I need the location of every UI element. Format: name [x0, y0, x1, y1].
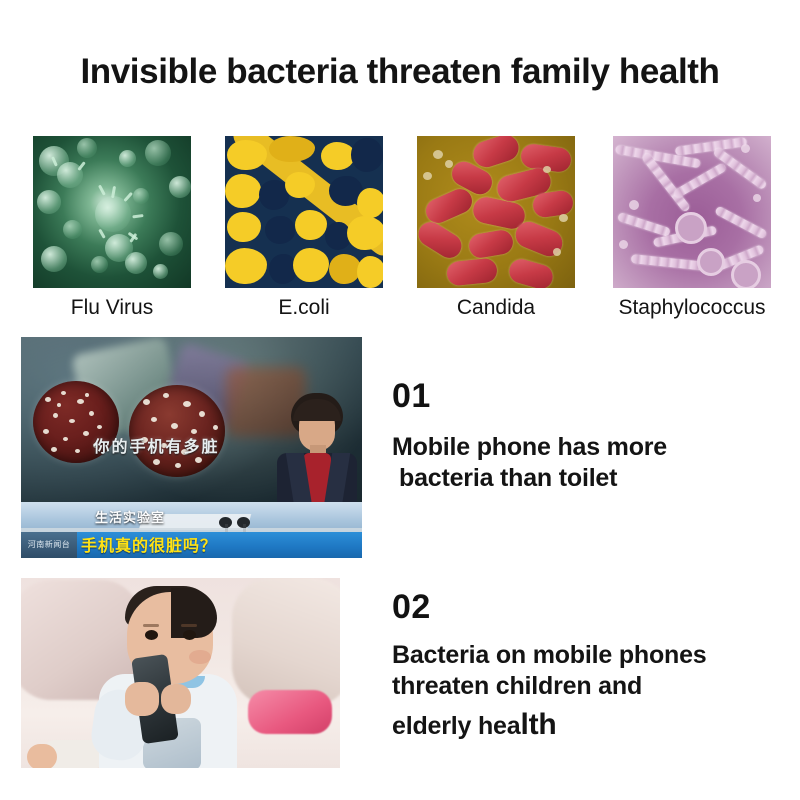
baby-brow-left [143, 624, 159, 627]
baby-eye-left [145, 630, 158, 640]
specimen-card-candida: Candida [417, 136, 575, 288]
candida-image [417, 136, 575, 288]
petri-dish-right [129, 385, 225, 477]
baby-hand-right [161, 684, 191, 714]
section-text-02-line3-a: elderly hea [392, 712, 520, 740]
specimen-card-flu-virus: Flu Virus [33, 136, 191, 288]
section-text-02: Bacteria on mobile phones threaten child… [392, 640, 792, 744]
candida-micrograph-art [417, 136, 575, 288]
baby-hand-left [125, 682, 159, 716]
section-text-02-line3: elderly health [392, 707, 792, 744]
page-title: Invisible bacteria threaten family healt… [0, 52, 800, 92]
news-lower-third: 河南新闻台 手机真的很脏吗？ [21, 532, 362, 558]
news-broadcast-photo: 你的手机有多脏 生活实验室 河南新闻台 手机真的很脏吗？ [21, 337, 362, 558]
staphylococcus-micrograph-art [613, 136, 771, 288]
baby-foot [27, 744, 57, 768]
specimen-gallery: Flu Virus [0, 136, 800, 326]
ecoli-image [225, 136, 383, 288]
staphylococcus-image [613, 136, 771, 288]
section-text-02-line2: threaten children and [392, 672, 642, 700]
news-overlay-caption: 你的手机有多脏 [64, 433, 249, 457]
specimen-label: Flu Virus [17, 296, 207, 320]
ecoli-micrograph-art [225, 136, 383, 288]
news-program-label: 生活实验室 [95, 507, 255, 524]
specimen-label: Staphylococcus [595, 296, 789, 320]
section-text-02-line1: Bacteria on mobile phones [392, 641, 707, 669]
flu-virus-image [33, 136, 191, 288]
baby-brow-right [181, 624, 197, 627]
infographic-page: Invisible bacteria threaten family healt… [0, 0, 800, 800]
specimen-card-staphylococcus: Staphylococcus [613, 136, 771, 288]
section-text-02-line3-b: lth [520, 708, 556, 741]
baby-chewing-phone-photo [21, 578, 340, 768]
pink-blanket [248, 690, 332, 734]
pillow-right [232, 578, 340, 706]
section-text-01: Mobile phone has more bacteria than toil… [392, 432, 792, 493]
specimen-label: E.coli [209, 296, 399, 320]
section-number-01: 01 [392, 377, 431, 416]
specimen-card-ecoli: E.coli [225, 136, 383, 288]
news-headline-ticker: 手机真的很脏吗？ [81, 533, 361, 558]
flu-virus-micrograph-art [33, 136, 191, 288]
section-number-02: 02 [392, 588, 431, 627]
news-channel-tag: 河南新闻台 [21, 532, 77, 558]
baby-eye-right [183, 630, 196, 640]
specimen-label: Candida [401, 296, 591, 320]
baby-cheek [189, 650, 211, 664]
section-text-01-line2: bacteria than toilet [392, 463, 792, 494]
section-text-01-line1: Mobile phone has more [392, 433, 667, 461]
